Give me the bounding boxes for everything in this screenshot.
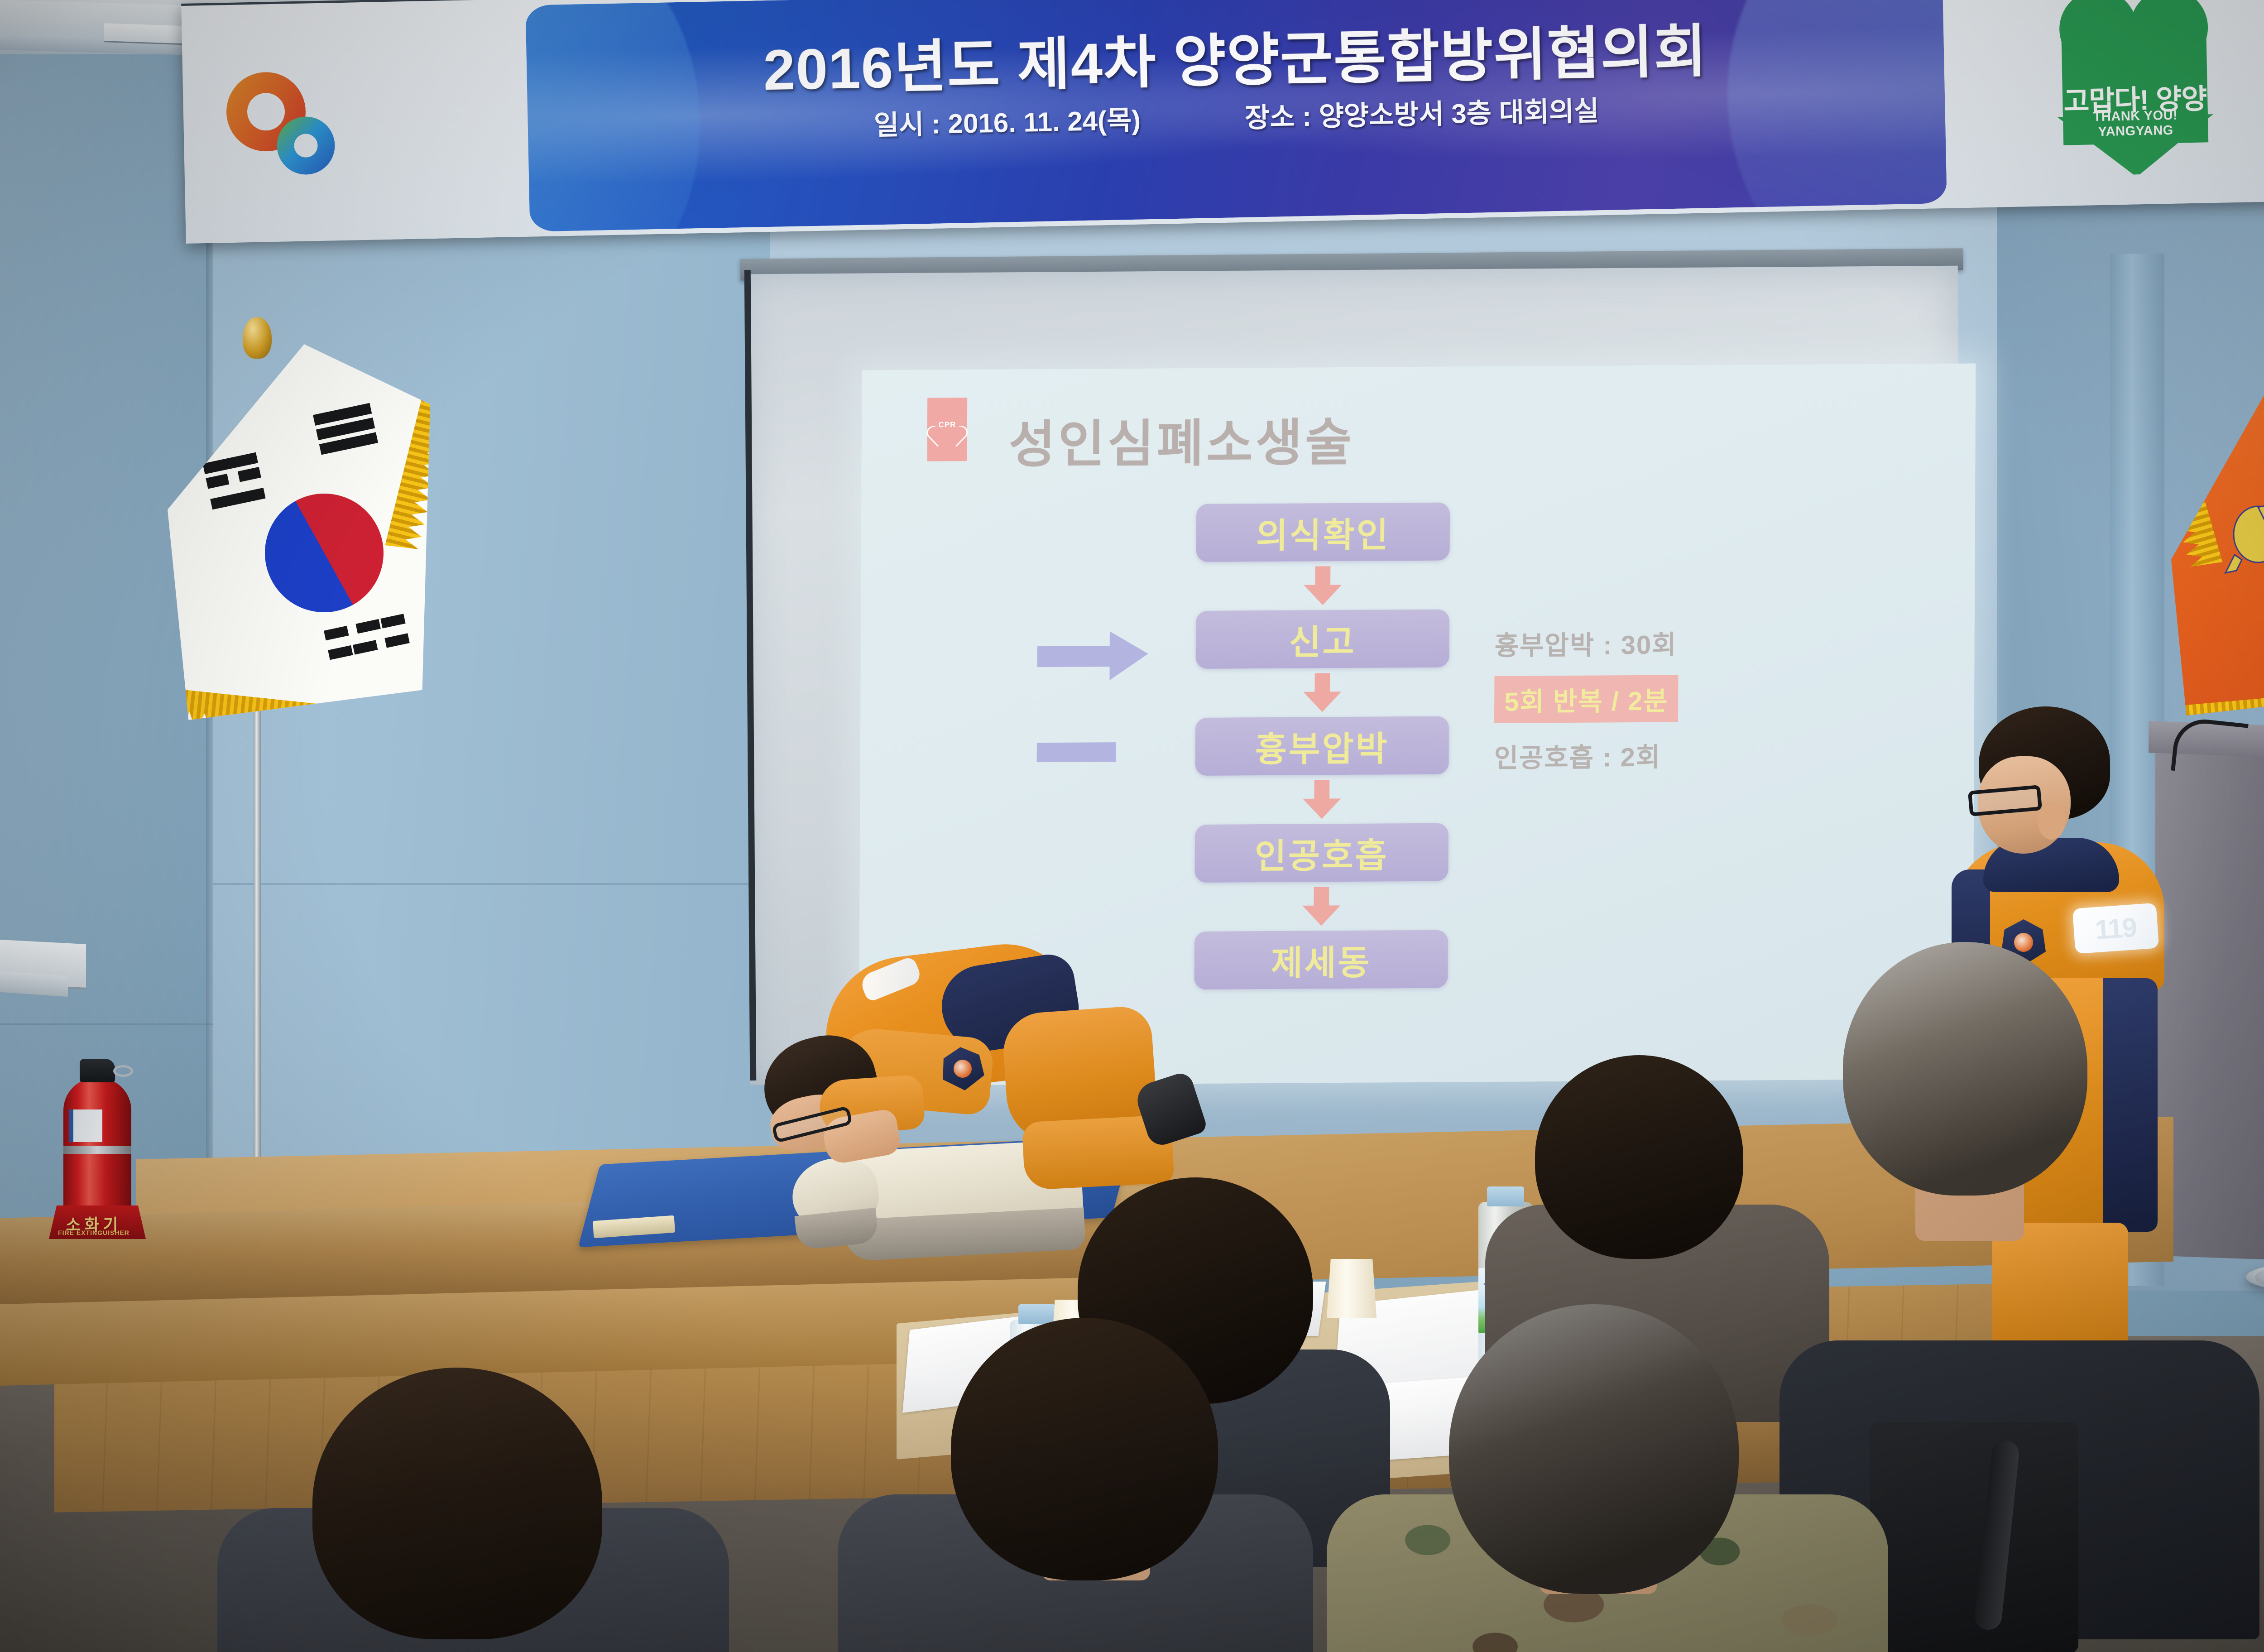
wall-seam [0,1023,213,1025]
heart-logo-english: THANK YOU! YANGYANG [2063,107,2208,140]
audience-member-head [312,1368,602,1639]
trigram-geon-icon [313,403,379,459]
trigram-gon-icon [323,605,433,666]
wall-seam [213,883,774,885]
note-breaths: 인공호흡 : 2회 [1494,735,1870,775]
slide-title: 성인심폐소생술 [1008,402,1354,477]
banner-date: 일시 : 2016. 11. 24(목) [873,98,1141,143]
bottle-cap [1487,1186,1524,1206]
repeat-loop-arrow-icon [1016,627,1152,782]
flow-step-call: 신고 [1196,610,1450,669]
uniform-119-patch: 119 [2072,903,2159,954]
paper-cup[interactable] [1327,1259,1377,1318]
note-compressions: 흉부압박 : 30회 [1495,622,1871,663]
cpr-heart-icon: CPR [927,398,968,461]
audience-member-head [1535,1055,1743,1259]
banner-venue: 장소 : 양양소방서 3층 대회의실 [1244,89,1599,135]
taegeuk-symbol-icon [244,472,405,634]
chair-back [1870,1422,2078,1652]
extinguisher-safety-pin-icon[interactable] [113,1065,133,1077]
audience-member-head-military [1449,1304,1739,1594]
bottle-cap [1018,1304,1055,1324]
fire-extinguisher: 소화기 FIRE EXTINGUISHER [45,1042,149,1232]
fire-service-emblem-icon [2216,480,2264,593]
audience-member-head-grey-hair [1843,942,2087,1196]
note-cycle-highlight: 5회 반복 / 2분 [1494,675,1679,723]
extinguisher-handle-icon[interactable] [80,1059,115,1082]
flow-step-compressions: 흉부압박 [1195,716,1449,776]
flow-arrow-down-icon [1195,668,1449,718]
flow-step-defibrillation: 제세동 [1194,930,1448,989]
flow-step-consciousness: 의식확인 [1196,503,1450,562]
banner-blue-field: 2016년도 제4차 양양군통합방위협의회 일시 : 2016. 11. 24(… [525,0,1947,232]
flow-step-breaths: 인공호흡 [1194,823,1449,883]
cpr-badge-label: CPR [932,420,963,429]
trigram-gam-icon [203,452,267,514]
meeting-room-photo: CPR 성인심폐소생술 의식확인 신고 흉부압박 인공호흡 제세동 흉부압박 :… [0,0,2264,1652]
event-banner: 2016년도 제4차 양양군통합방위협의회 일시 : 2016. 11. 24(… [181,0,2264,254]
cpr-flowchart: 의식확인 신고 흉부압박 인공호흡 제세동 [1194,503,1450,989]
rings-logo-icon [225,71,345,177]
flag-finial-icon [243,317,272,359]
cpr-demonstrator-firefighter [688,942,1168,1223]
flow-arrow-down-icon [1196,561,1449,611]
extinguisher-label-english: FIRE EXTINGUISHER [45,1229,142,1236]
extinguisher-instruction-label [69,1109,102,1142]
flow-arrow-down-icon [1194,881,1448,932]
slide-annotations: 흉부압박 : 30회 5회 반복 / 2분 인공호흡 : 2회 [1494,622,1871,788]
flow-arrow-down-icon [1195,774,1449,825]
yangyang-heart-logo-icon: 고맙다! 양양 THANK YOU! YANGYANG [2061,19,2213,158]
audience-member-head [951,1318,1218,1580]
